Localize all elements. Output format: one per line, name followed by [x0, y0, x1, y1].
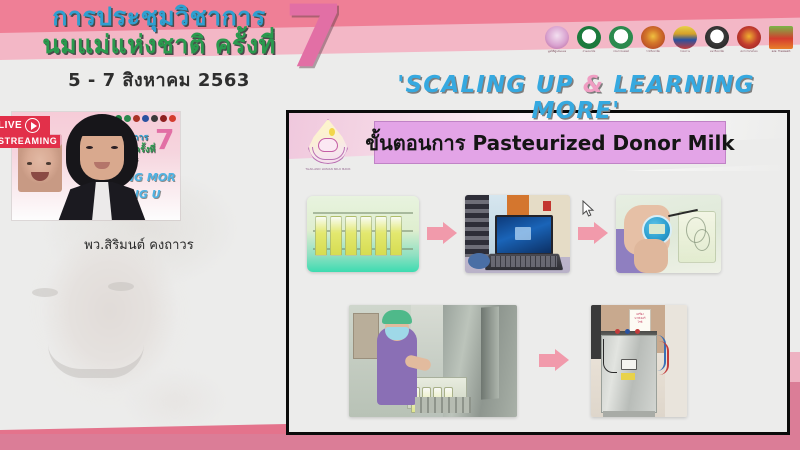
org-logo-0-caption: มูลนิธิศูนย์นมแม่	[548, 50, 566, 54]
org-logo-4: กระทรวง	[672, 26, 698, 56]
conference-title-line1: การประชุมวิชาการ	[24, 4, 294, 30]
arrow-right-icon	[578, 219, 608, 249]
org-logo-5: มหาวิทยาลัย	[704, 26, 730, 56]
arrow-right-icon	[539, 346, 569, 376]
logo-caption: THAILAND HUMAN MILK BANK	[301, 167, 355, 171]
video-edition-number: 7	[155, 126, 174, 154]
conference-date: 5 - 7 สิงหาคม 2563	[24, 65, 294, 94]
slide-title-box: ขั้นตอนการ Pasteurized Donor Milk	[374, 121, 726, 164]
conference-tagline: 'SCALING UP & LEARNING MORE'	[360, 72, 792, 124]
organization-logos: มูลนิธิศูนย์นมแม่ กรมอนามัย กรมการแพทย์ …	[544, 26, 794, 56]
digital-thermometer-photo	[616, 195, 721, 273]
conference-title-line2: นมแม่แห่งชาติ ครั้งที่	[24, 32, 294, 58]
process-row-1	[307, 195, 721, 273]
live-label: LIVE	[0, 120, 22, 131]
live-streaming-badge: LIVE STREAMING	[0, 116, 60, 148]
slide-panel: THAILAND HUMAN MILK BANK ขั้นตอนการ Past…	[286, 110, 790, 435]
play-icon	[25, 118, 40, 133]
milk-bottle-racks-photo	[307, 196, 419, 272]
laptop-data-entry-photo	[465, 195, 570, 273]
org-logo-1: กรมอนามัย	[576, 26, 602, 56]
mouse-pointer	[582, 200, 595, 223]
conference-edition-number: 7	[284, 0, 344, 80]
live-badge-row1: LIVE	[0, 116, 50, 135]
org-logo-3-caption: ราชวิทยาลัย	[646, 50, 660, 54]
presenter-name: พว.สิริมนต์ คงถาวร	[24, 234, 254, 255]
process-row-2: เครื่องพาสเจอร์ไรซ์	[349, 305, 687, 417]
arrow-right-icon	[427, 219, 457, 249]
nurse-loading-bottles-photo	[349, 305, 517, 417]
org-logo-6-caption: สภากาชาดไทย	[740, 50, 757, 54]
slide-title: ขั้นตอนการ Pasteurized Donor Milk	[365, 127, 734, 159]
org-logo-7: สสส. ThaiHealth	[768, 26, 794, 56]
tagline-prefix: 'SCALING UP	[397, 72, 583, 98]
org-logo-0: มูลนิธิศูนย์นมแม่	[544, 26, 570, 56]
org-logo-6: สภากาชาดไทย	[736, 26, 762, 56]
slide-screenshot: การประชุมวิชาการ นมแม่แห่งชาติ ครั้งที่ …	[0, 0, 800, 450]
org-logo-2-caption: กรมการแพทย์	[613, 50, 629, 54]
org-logo-4-caption: กระทรวง	[680, 50, 690, 54]
org-logo-3: ราชวิทยาลัย	[640, 26, 666, 56]
conference-title-block: การประชุมวิชาการ นมแม่แห่งชาติ ครั้งที่ …	[24, 4, 294, 94]
org-logo-7-caption: สสส. ThaiHealth	[772, 50, 791, 54]
org-logo-2: กรมการแพทย์	[608, 26, 634, 56]
presenter-figure	[56, 112, 148, 220]
org-logo-5-caption: มหาวิทยาลัย	[710, 50, 724, 54]
background-bottom-strip	[0, 434, 800, 450]
streaming-label: STREAMING	[0, 135, 60, 148]
pasteurizer-machine-photo: เครื่องพาสเจอร์ไรซ์	[591, 305, 687, 417]
human-milk-bank-drop-logo: THAILAND HUMAN MILK BANK	[299, 116, 357, 172]
tagline-ampersand: &	[583, 72, 604, 98]
org-logo-1-caption: กรมอนามัย	[583, 50, 596, 54]
